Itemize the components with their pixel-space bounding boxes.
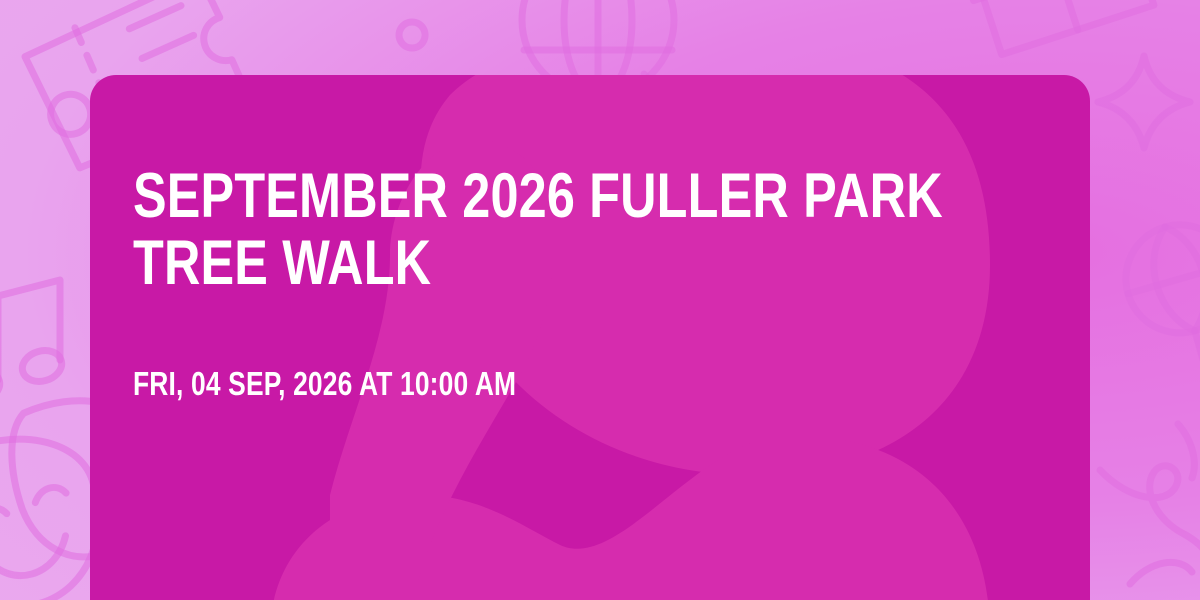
event-banner: September 2026 Fuller Park Tree Walk Fri…: [0, 0, 1200, 600]
confetti-dot-icon: [399, 22, 425, 48]
streamer-secondary-icon: [1178, 424, 1194, 478]
event-date: Fri, 04 Sep, 2026 at 10:00 AM: [133, 366, 1033, 402]
card-content: September 2026 Fuller Park Tree Walk Fri…: [133, 75, 1033, 600]
event-card: September 2026 Fuller Park Tree Walk Fri…: [90, 75, 1090, 600]
gift-box-icon: [957, 0, 1164, 58]
streamer-icon: [1100, 466, 1200, 584]
balloon-icon: [1113, 212, 1200, 376]
sparkle-icon: [1098, 56, 1190, 148]
music-note-icon: [0, 280, 65, 406]
event-title: September 2026 Fuller Park Tree Walk: [133, 163, 1033, 298]
